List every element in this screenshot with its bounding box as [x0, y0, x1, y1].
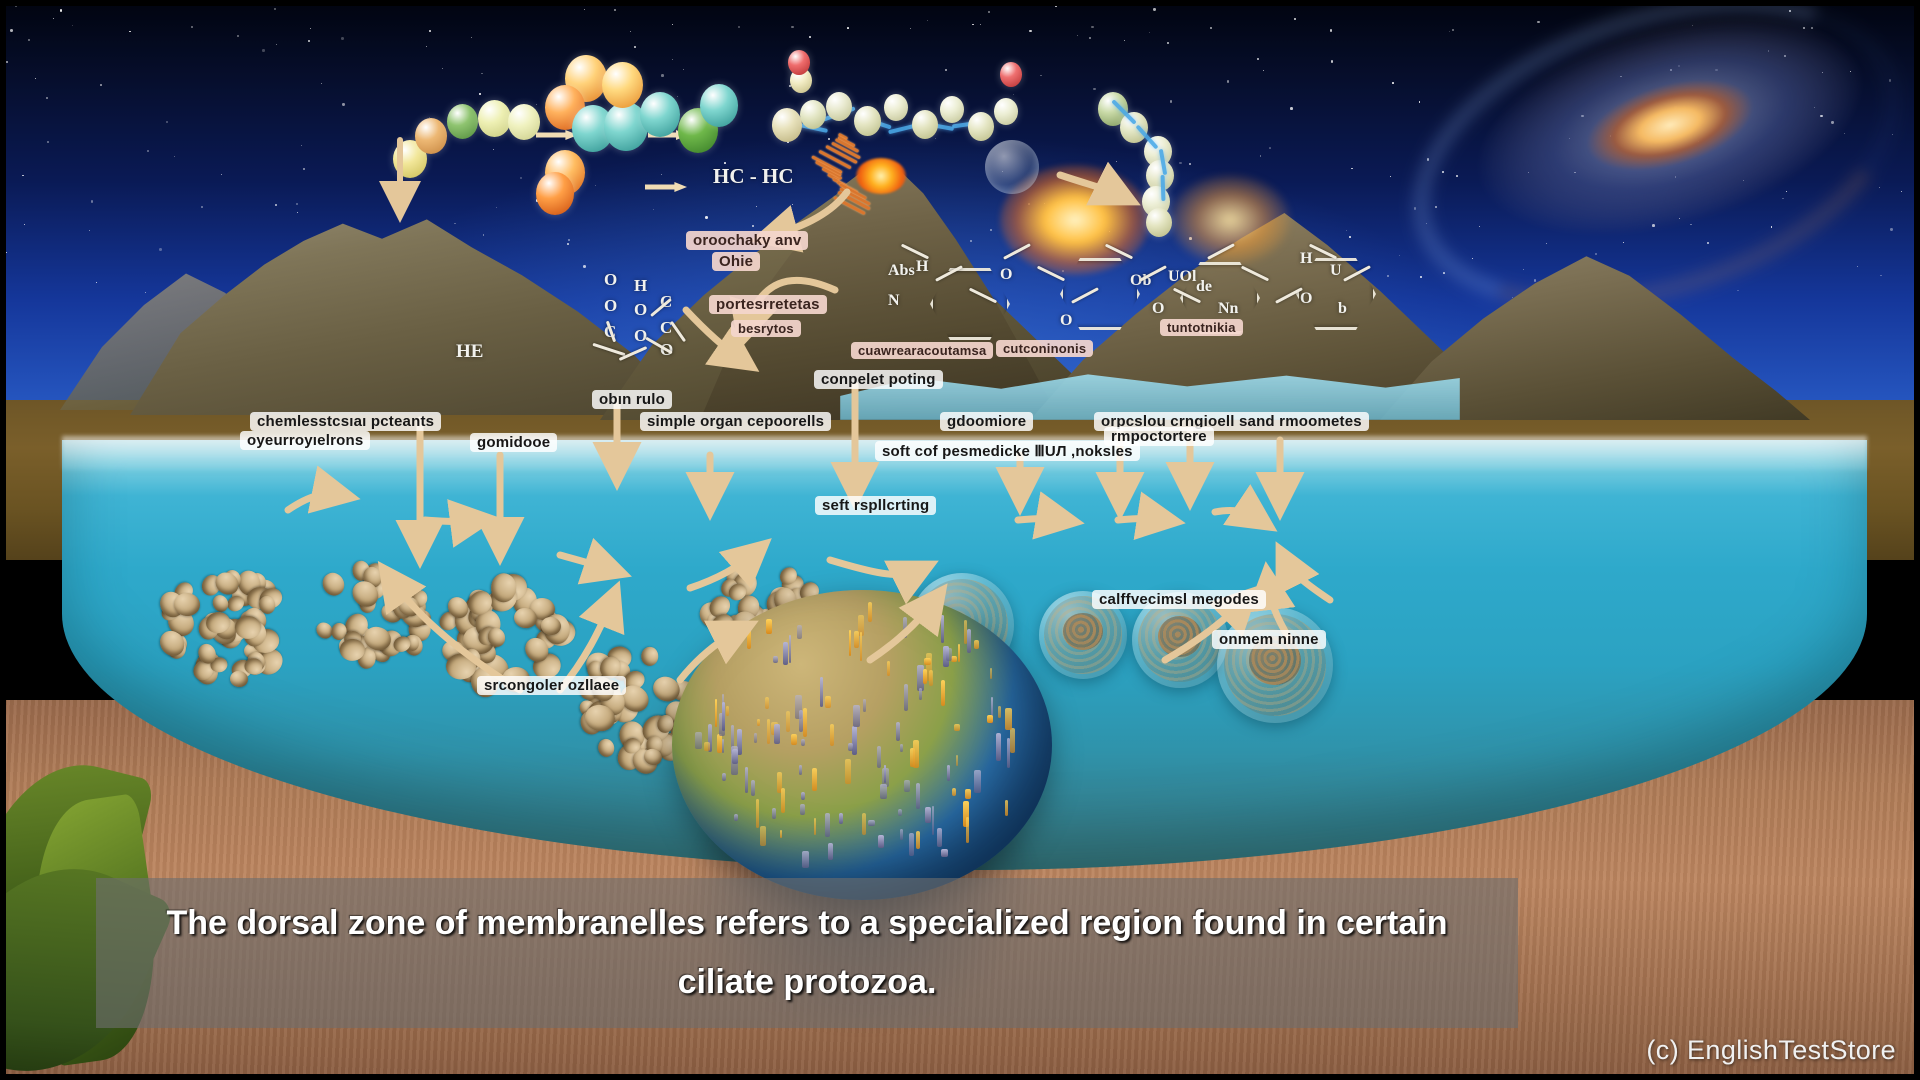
- protocell-sphere-4: [1217, 607, 1333, 723]
- diagram-label-srcongoler-ozllaee: srcongoler ozllaee: [477, 676, 626, 695]
- globe-vegetation: [830, 724, 834, 746]
- globe-city-structure: [946, 648, 952, 661]
- globe-vegetation: [1005, 708, 1012, 731]
- chem-label-hc: HC - HC: [713, 164, 794, 189]
- star: [1890, 228, 1892, 230]
- globe-vegetation: [760, 826, 766, 846]
- globe-city-structure: [828, 843, 833, 860]
- globe-city-structure: [797, 625, 802, 639]
- globe-city-structure: [974, 770, 981, 793]
- star: [796, 3, 798, 5]
- globe-city-structure: [904, 684, 908, 711]
- diagram-label-cyclic-reactions: oyeurroyıelrons: [240, 431, 370, 450]
- star: [661, 74, 664, 77]
- globe-vegetation: [952, 788, 956, 796]
- star: [683, 69, 684, 70]
- star: [1330, 29, 1332, 31]
- diagram-label-he: HE: [456, 341, 483, 363]
- star: [6, 61, 8, 63]
- chem-atom-label: O: [634, 326, 647, 346]
- diagram-label-ohie: Ohie: [712, 252, 760, 271]
- star: [791, 26, 793, 28]
- star: [201, 206, 202, 207]
- globe-city-structure: [909, 833, 914, 856]
- globe-vegetation: [715, 699, 718, 727]
- globe-vegetation: [849, 630, 852, 657]
- chem-atom-label: O: [604, 270, 617, 290]
- molecule-atom-s1-4: [508, 104, 540, 140]
- globe-vegetation: [803, 708, 807, 736]
- star: [479, 93, 480, 94]
- globe-city-structure: [745, 767, 749, 793]
- protocell-bead: [596, 738, 616, 759]
- watermark: (c) EnglishTestStore: [1646, 1035, 1896, 1066]
- star: [1392, 82, 1394, 84]
- globe-vegetation: [845, 759, 851, 784]
- star: [567, 243, 569, 245]
- globe-city-structure: [941, 615, 945, 643]
- lava-glow-far-right: [1170, 175, 1290, 265]
- molecule-atom-s3-1: [640, 92, 680, 137]
- molecule-atom-right-9: [968, 112, 994, 141]
- star: [129, 31, 131, 33]
- star: [653, 209, 654, 210]
- globe-vegetation: [956, 755, 958, 767]
- globe-city-structure: [695, 732, 702, 749]
- globe-city-structure: [799, 710, 803, 732]
- globe-city-structure: [732, 749, 739, 765]
- star: [847, 27, 849, 29]
- globe-vegetation: [766, 619, 772, 633]
- globe-vegetation: [929, 670, 933, 686]
- star: [426, 46, 427, 47]
- globe-city-structure: [825, 813, 830, 838]
- globe-vegetation: [954, 724, 960, 730]
- star: [1331, 60, 1333, 62]
- star: [990, 229, 992, 231]
- molecule-atom-s1-1: [415, 118, 447, 154]
- globe-vegetation: [860, 632, 862, 661]
- globe-city-structure: [754, 733, 757, 743]
- globe-city-structure: [801, 792, 806, 800]
- globe-city-structure: [853, 705, 859, 727]
- globe-vegetation: [786, 711, 790, 731]
- globe-vegetation: [767, 719, 770, 744]
- star: [10, 29, 13, 32]
- globe-city-structure: [772, 808, 776, 819]
- star: [809, 36, 811, 38]
- star: [1093, 88, 1095, 90]
- earth-globe: [672, 590, 1052, 900]
- star: [46, 97, 48, 99]
- globe-city-structure: [916, 783, 919, 809]
- protocell-cluster-2: [320, 570, 424, 666]
- globe-vegetation: [966, 817, 969, 843]
- star: [1349, 236, 1351, 238]
- star: [91, 200, 94, 203]
- globe-city-structure: [722, 773, 726, 780]
- star: [595, 185, 596, 186]
- globe-city-structure: [947, 765, 950, 781]
- star: [738, 26, 740, 28]
- molecule-atom-s1-3: [478, 100, 511, 137]
- protocell-bead: [319, 569, 348, 599]
- star: [96, 282, 97, 283]
- globe-vegetation: [998, 706, 1001, 718]
- protocell-bead: [340, 639, 365, 661]
- globe-city-structure: [863, 699, 866, 712]
- chem-atom-label: H: [634, 276, 647, 296]
- star: [1091, 26, 1094, 29]
- globe-city-structure: [877, 746, 881, 767]
- star: [166, 121, 168, 123]
- chem-atom-label: O: [1060, 312, 1072, 330]
- globe-vegetation: [704, 742, 711, 751]
- star: [276, 44, 277, 45]
- molecule-atom-right-7: [912, 110, 938, 139]
- globe-city-structure: [903, 617, 907, 638]
- star: [661, 174, 662, 175]
- star: [1149, 32, 1150, 33]
- globe-city-structure: [852, 726, 858, 755]
- diagram-label-simple-organic: simple organ cepoorells: [640, 412, 831, 431]
- star: [60, 9, 62, 11]
- chem-atom-label: O: [634, 300, 647, 320]
- globe-city-structure: [799, 765, 802, 775]
- globe-city-structure: [848, 743, 853, 751]
- chem-atom-label: H: [1300, 250, 1312, 268]
- molecule-atom-s3-2: [700, 84, 738, 127]
- star: [481, 73, 482, 74]
- globe-city-structure: [774, 724, 780, 744]
- diagram-label-obin-rulo: obın rulo: [592, 390, 672, 409]
- globe-vegetation: [814, 818, 816, 835]
- star: [1351, 168, 1352, 169]
- chem-atom-label: H: [916, 258, 928, 276]
- star: [520, 177, 521, 178]
- globe-city-structure: [925, 807, 930, 823]
- globe-vegetation: [924, 658, 931, 665]
- diagram-label-soft-cof: soft cof pesmedicke ⅢUЛ ,noksles: [875, 441, 1140, 461]
- molecule-atom-s2-5: [536, 172, 574, 215]
- molecule-atom-right-10: [994, 98, 1018, 125]
- diagram-label-tuntotnikia: tuntotnikia: [1160, 319, 1243, 336]
- globe-vegetation: [862, 813, 866, 835]
- star: [1263, 70, 1264, 71]
- diagram-label-self-replicating: seft rspllcrting: [815, 496, 936, 515]
- molecule-atom-right-8: [940, 96, 964, 123]
- molecule-atom-right-4: [788, 50, 810, 75]
- star: [297, 212, 298, 213]
- star: [496, 207, 497, 208]
- globe-city-structure: [941, 849, 948, 857]
- globe-vegetation: [868, 602, 871, 623]
- globe-vegetation: [1010, 728, 1015, 753]
- star: [792, 204, 793, 205]
- globe-vegetation: [781, 788, 785, 814]
- globe-vegetation: [887, 661, 890, 676]
- diagram-label-oroochaky-anv: oroochaky anv: [686, 231, 808, 250]
- globe-city-structure: [884, 765, 887, 783]
- diagram-label-chemical-products: chemlesstcsıaı pcteants: [250, 412, 441, 431]
- star: [756, 206, 757, 207]
- globe-vegetation: [951, 656, 956, 662]
- chem-atom-label: O: [1000, 266, 1012, 284]
- molecule-atom-right-0: [772, 108, 802, 142]
- globe-city-structure: [900, 744, 903, 753]
- globe-city-structure: [734, 814, 738, 820]
- diagram-label-cutconinonis: cutconinonis: [996, 340, 1093, 357]
- globe-vegetation: [765, 697, 769, 709]
- globe-vegetation: [923, 669, 927, 685]
- globe-city-structure: [801, 739, 805, 746]
- star: [429, 30, 431, 32]
- globe-vegetation: [987, 715, 992, 724]
- globe-vegetation: [717, 734, 722, 753]
- molecule-atom-right-11: [1000, 62, 1022, 87]
- globe-vegetation: [1005, 800, 1008, 815]
- diagram-label-conpelet-poting: conpelet poting: [814, 370, 943, 389]
- globe-vegetation: [965, 789, 972, 800]
- molecule-atom-right-1: [800, 100, 826, 129]
- star: [935, 138, 936, 139]
- globe-vegetation: [913, 740, 919, 768]
- globe-vegetation: [974, 640, 978, 649]
- globe-city-structure: [773, 656, 778, 662]
- globe-city-structure: [898, 809, 902, 816]
- molecule-atom-farright-5: [1146, 208, 1172, 237]
- globe-city-structure: [880, 784, 887, 799]
- globe-city-structure: [751, 780, 755, 796]
- star: [634, 46, 636, 48]
- star: [262, 49, 264, 51]
- protocell-bead: [243, 657, 262, 674]
- star: [1210, 27, 1211, 28]
- star: [1189, 163, 1190, 164]
- diagram-label-besrytos: besrytos: [731, 320, 801, 337]
- globe-vegetation: [825, 696, 831, 708]
- star: [1029, 30, 1031, 32]
- molecule-atom-right-2: [826, 92, 852, 121]
- globe-vegetation: [756, 799, 760, 827]
- star: [972, 24, 974, 26]
- diagram-label-cuawrearacoutamsa: cuawrearacoutamsa: [851, 342, 993, 359]
- globe-vegetation: [791, 734, 797, 745]
- diagram-label-calffvecimsl-megodes: calffvecimsl megodes: [1092, 590, 1266, 609]
- globe-city-structure: [1007, 738, 1011, 768]
- star: [274, 8, 276, 10]
- globe-city-structure: [919, 688, 923, 700]
- star: [237, 35, 238, 36]
- diagram-label-onmem-ninne: onmem ninne: [1212, 630, 1326, 649]
- globe-city-structure: [820, 677, 824, 707]
- globe-vegetation: [747, 627, 752, 649]
- globe-city-structure: [996, 733, 1001, 760]
- chem-atom-label: O: [604, 296, 617, 316]
- globe-city-structure: [904, 780, 910, 793]
- star: [583, 265, 586, 268]
- star: [454, 223, 455, 224]
- star: [771, 228, 773, 230]
- star: [100, 84, 102, 86]
- star: [705, 216, 708, 219]
- star: [147, 150, 149, 152]
- globe-city-structure: [722, 739, 724, 754]
- star: [493, 149, 494, 150]
- star: [72, 25, 73, 26]
- globe-vegetation: [854, 631, 859, 648]
- protocell-nucleus: [1063, 613, 1103, 650]
- protocell-cluster-3: [445, 587, 561, 687]
- molecule-atom-s1-2: [447, 104, 478, 139]
- globe-city-structure: [839, 813, 843, 824]
- globe-city-structure: [802, 851, 808, 868]
- star: [1290, 107, 1293, 110]
- star: [752, 225, 754, 227]
- diagram-label-portesrretetas: portesrretetas: [709, 295, 827, 314]
- globe-city-structure: [900, 829, 903, 840]
- globe-city-structure: [722, 702, 726, 731]
- protocell-cluster-1: [163, 575, 287, 685]
- globe-vegetation: [780, 830, 782, 839]
- star: [584, 9, 585, 10]
- globe-vegetation: [757, 719, 760, 726]
- chem-atom-label: O: [1152, 300, 1164, 318]
- diagram-label-gdoomiore: gdoomiore: [940, 412, 1033, 431]
- star: [342, 103, 344, 105]
- globe-vegetation: [916, 831, 920, 849]
- globe-vegetation: [726, 706, 729, 716]
- globe-vegetation: [941, 680, 945, 706]
- chem-atom-label: Abs: [888, 262, 915, 280]
- dna-double-helix-icon: [800, 135, 890, 210]
- molecule-atom-right-6: [884, 94, 908, 121]
- star: [159, 248, 162, 251]
- globe-city-structure: [896, 722, 900, 742]
- protocell-nucleus: [1158, 616, 1201, 657]
- star: [483, 234, 485, 236]
- globe-city-structure: [937, 828, 942, 846]
- globe-city-structure: [932, 806, 935, 835]
- diagram-label-gomidooe: gomidooe: [470, 433, 557, 452]
- globe-city-structure: [967, 629, 972, 653]
- star: [1055, 5, 1057, 7]
- star: [1089, 37, 1091, 39]
- globe-city-structure: [800, 804, 806, 815]
- globe-vegetation: [812, 768, 817, 791]
- globe-city-structure: [783, 642, 788, 664]
- protocell-bead: [641, 646, 659, 666]
- molecule-atom-right-5: [854, 106, 881, 136]
- caption-text: The dorsal zone of membranelles refers t…: [96, 878, 1518, 1028]
- star: [471, 37, 472, 38]
- chem-atom-label: N: [888, 292, 900, 310]
- illustration-canvas: HC - HC: [0, 0, 1920, 1080]
- star: [1153, 8, 1155, 10]
- globe-city-structure: [789, 635, 791, 663]
- diagram-label-mpoctortere: rmpoctortere: [1104, 427, 1214, 446]
- star: [630, 31, 631, 32]
- molecule-atom-s2-6: [602, 62, 643, 108]
- globe-vegetation: [958, 644, 961, 662]
- star: [341, 37, 344, 40]
- bubble: [985, 140, 1039, 194]
- molecular-bond: [1161, 175, 1166, 201]
- globe-city-structure: [878, 835, 884, 848]
- globe-city-structure: [868, 820, 875, 827]
- star: [1387, 275, 1389, 277]
